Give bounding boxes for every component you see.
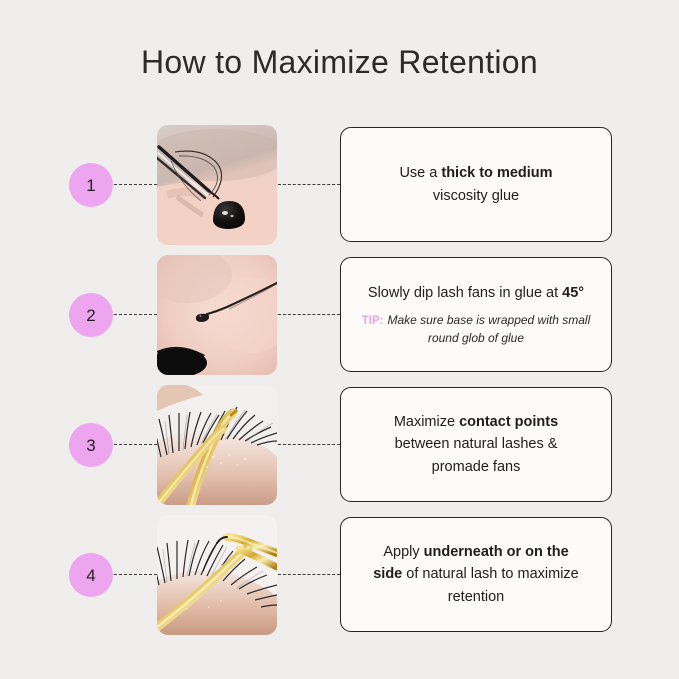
card-line: viscosity glue [355,185,597,207]
step-thumbnail-1 [157,125,277,245]
card-line: Slowly dip lash fans in glue at 45° [355,282,597,304]
connector-dash-left [114,184,157,185]
step-number-badge: 4 [69,553,113,597]
connector-dash-left [114,574,157,575]
lash-fan-dipped-in-glue-photo [157,255,277,375]
step-thumbnail-3 [157,385,277,505]
tip-block-2: TIP:Make sure base is wrapped with small… [355,311,597,347]
card-text-lines-1: Use a thick to mediumviscosity glue [355,162,597,207]
gold-tweezers-applying-extension-photo [157,515,277,635]
page-title: How to Maximize Retention [0,44,679,81]
glue-drop-with-tweezers-photo [157,125,277,245]
tip-text: Make sure base is wrapped with small rou… [387,313,590,345]
card-line: retention [355,586,597,608]
step-number-badge: 3 [69,423,113,467]
step-text-card: Maximize contact pointsbetween natural l… [340,387,612,502]
card-text-lines-2: Slowly dip lash fans in glue at 45° [355,282,597,304]
card-line: Use a thick to medium [355,162,597,184]
step-number-badge: 1 [69,163,113,207]
card-text-lines-3: Maximize contact pointsbetween natural l… [355,411,597,478]
card-line: promade fans [355,456,597,478]
connector-dash-right [278,444,340,445]
card-line: side of natural lash to maximize [355,563,597,585]
card-text-lines-4: Apply underneath or on theside of natura… [355,541,597,608]
connector-dash-right [278,314,340,315]
steps-list: 1 [0,125,679,645]
connector-dash-right [278,574,340,575]
connector-dash-right [278,184,340,185]
step-thumbnail-4 [157,515,277,635]
connector-dash-left [114,444,157,445]
step-row: 4 [0,515,679,635]
connector-dash-left [114,314,157,315]
card-line: Maximize contact points [355,411,597,433]
step-text-card: Slowly dip lash fans in glue at 45° TIP:… [340,257,612,372]
step-number-badge: 2 [69,293,113,337]
step-text-card: Use a thick to mediumviscosity glue [340,127,612,242]
step-text-card: Apply underneath or on theside of natura… [340,517,612,632]
step-row: 3 [0,385,679,505]
card-line: between natural lashes & [355,433,597,455]
gold-tweezers-isolating-lashes-photo [157,385,277,505]
step-thumbnail-2 [157,255,277,375]
step-row: 2 [0,255,679,375]
step-row: 1 [0,125,679,245]
tip-label: TIP: [362,315,384,327]
card-line: Apply underneath or on the [355,541,597,563]
